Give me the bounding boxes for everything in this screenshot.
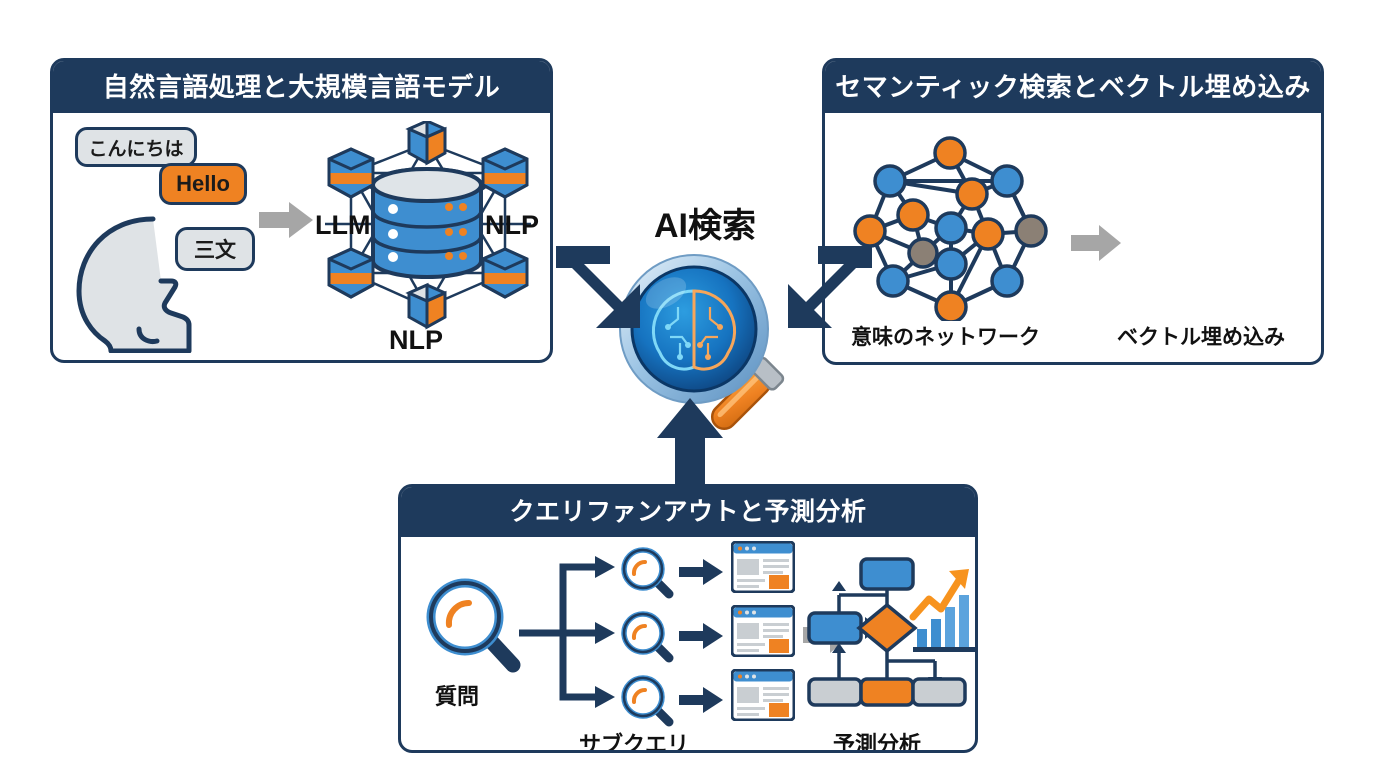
speech-bubble-hello-text: Hello xyxy=(176,171,230,197)
graph-node-blue xyxy=(878,266,908,296)
panel-semantic: セマンティック検索とベクトル埋め込み xyxy=(822,58,1324,365)
graph-node-orange xyxy=(957,179,987,209)
speech-bubble-konnichiwa: こんにちは xyxy=(75,127,197,167)
result-card-icon xyxy=(731,541,795,593)
navy-arrow-icon xyxy=(679,559,725,585)
cube-node xyxy=(329,149,373,197)
prediction-flowchart xyxy=(799,551,975,711)
database-icon xyxy=(373,169,481,277)
grey-arrow-icon xyxy=(1071,225,1123,263)
panel-nlp-body: こんにちは Hello 三文 xyxy=(53,113,550,363)
speech-bubble-sanbun-text: 三文 xyxy=(194,234,236,264)
navy-arrow-icon xyxy=(679,687,725,713)
graph-node-blue xyxy=(936,213,966,243)
speech-bubble-konnichiwa-text: こんにちは xyxy=(88,134,183,161)
graph-node-orange xyxy=(973,219,1003,249)
subquery-magnifier-icon xyxy=(619,609,675,665)
result-card-icon xyxy=(731,669,795,721)
cube-node xyxy=(483,149,527,197)
caption-subquery: サブクエリ xyxy=(579,727,689,753)
speech-bubble-sanbun: 三文 xyxy=(175,227,255,271)
graph-node-grey xyxy=(909,239,937,267)
speech-bubble-hello: Hello xyxy=(159,163,247,205)
cube-node xyxy=(483,249,527,297)
cube-node xyxy=(409,285,445,327)
graph-node-blue xyxy=(936,249,966,279)
panel-fanout-title: クエリファンアウトと予測分析 xyxy=(401,487,975,537)
grey-arrow-icon xyxy=(259,201,315,241)
panel-fanout: クエリファンアウトと予測分析 xyxy=(398,484,978,753)
graph-node-grey xyxy=(1016,216,1046,246)
label-nlp-right: NLP xyxy=(485,210,539,241)
arrow-nlp-to-center xyxy=(548,240,668,330)
result-card-icon xyxy=(731,605,795,657)
graph-node-orange xyxy=(936,292,966,321)
arrow-semantic-to-center xyxy=(760,240,880,330)
panel-semantic-body: [1, 0] ➡ [1, 1] [1, 1] ➡ [0, 0] [3, 0] ➡… xyxy=(825,113,1321,365)
graph-node-orange xyxy=(898,200,928,230)
cube-node xyxy=(409,121,445,163)
graph-node-blue xyxy=(992,266,1022,296)
panel-fanout-body: 質問 サブクエリ 予測分析 xyxy=(401,537,975,753)
graph-node-blue xyxy=(992,166,1022,196)
panel-semantic-title: セマンティック検索とベクトル埋め込み xyxy=(825,61,1321,113)
caption-question: 質問 xyxy=(435,679,479,711)
label-nlp-bottom: NLP xyxy=(389,325,443,356)
graph-node-orange xyxy=(935,138,965,168)
caption-prediction: 予測分析 xyxy=(833,727,921,753)
caption-vector-embedding: ベクトル埋め込み xyxy=(1117,321,1285,351)
cube-node xyxy=(329,249,373,297)
graph-node-blue xyxy=(875,166,905,196)
panel-nlp: 自然言語処理と大規模言語モデル こんにちは Hello 三文 xyxy=(50,58,553,363)
navy-arrow-icon xyxy=(679,623,725,649)
query-magnifier-icon xyxy=(423,575,523,675)
panel-nlp-title: 自然言語処理と大規模言語モデル xyxy=(53,61,550,113)
arrow-fanout-to-center xyxy=(655,398,725,494)
label-llm: LLM xyxy=(315,210,370,241)
subquery-magnifier-icon xyxy=(619,545,675,601)
subquery-magnifier-icon xyxy=(619,673,675,729)
